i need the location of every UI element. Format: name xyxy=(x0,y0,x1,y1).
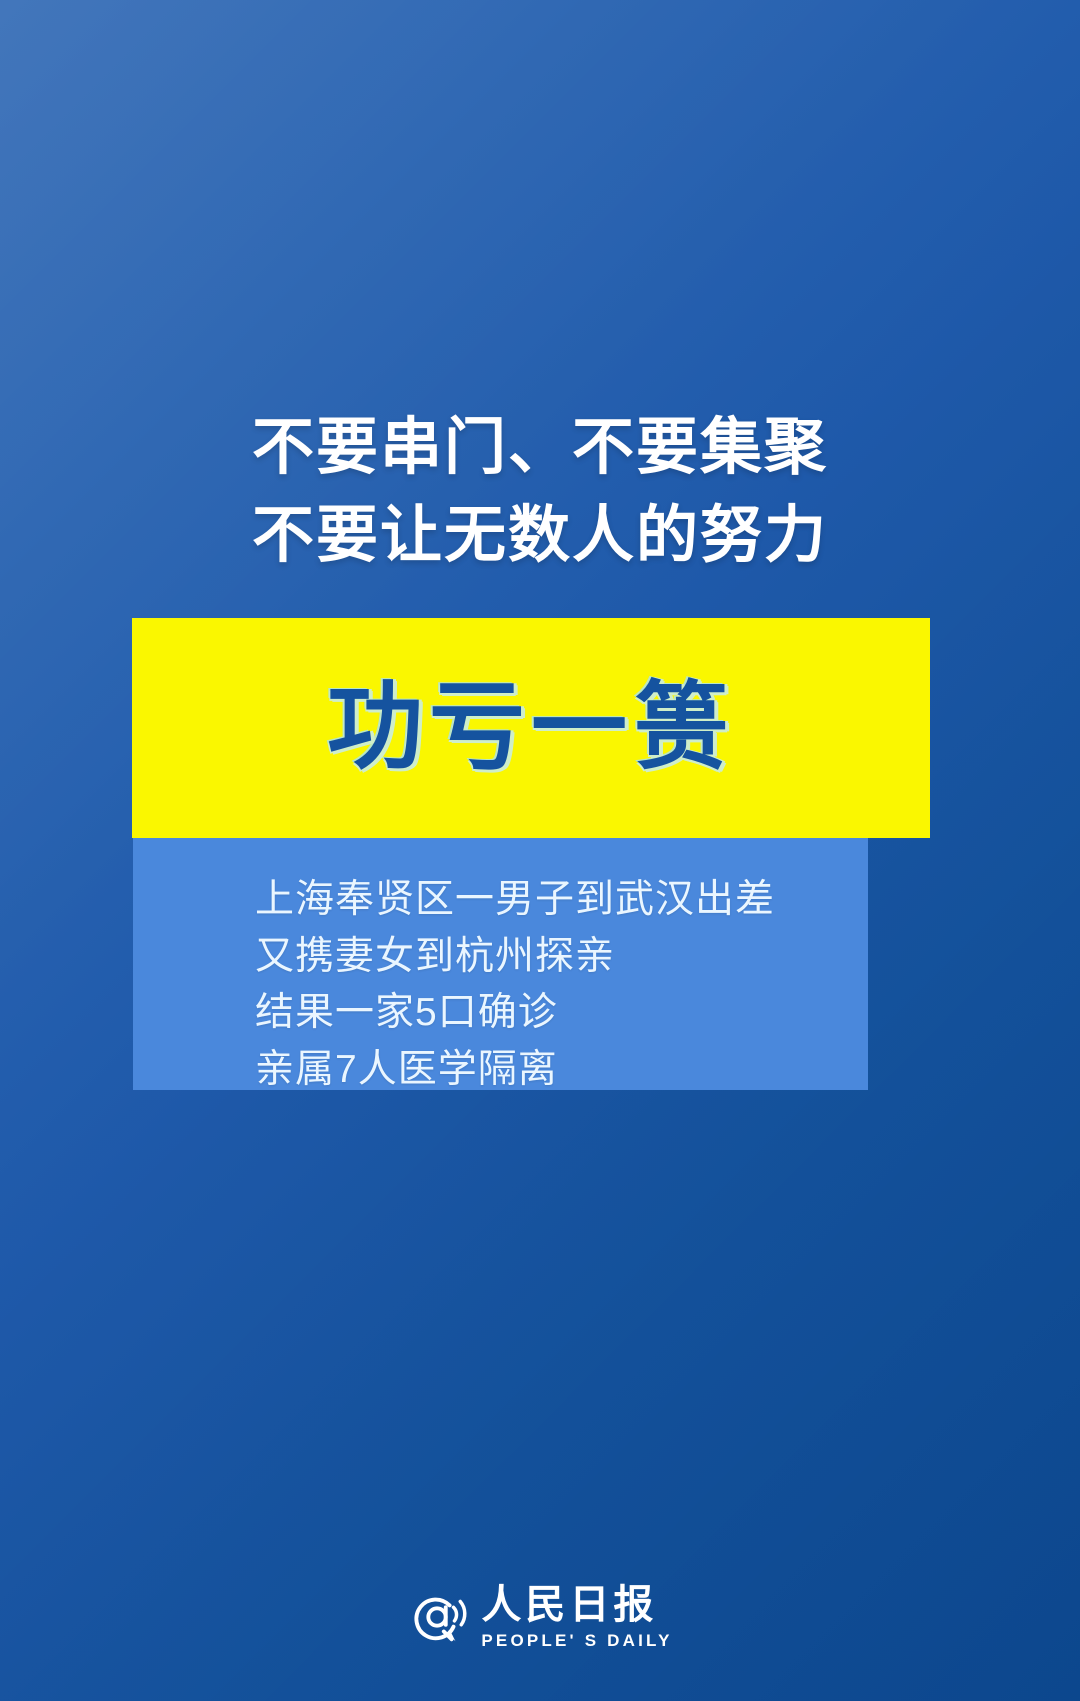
detail-box: 上海奉贤区一男子到武汉出差 又携妻女到杭州探亲 结果一家5口确诊 亲属7人医学隔… xyxy=(133,838,868,1090)
brand-logo: 人民日报 PEOPLE' S DAILY xyxy=(0,1585,1080,1649)
headline: 不要串门、不要集聚 不要让无数人的努力 xyxy=(0,404,1080,580)
detail-line-4: 亲属7人医学隔离 xyxy=(255,1042,868,1099)
headline-line-2: 不要让无数人的努力 xyxy=(0,492,1080,580)
detail-line-1: 上海奉贤区一男子到武汉出差 xyxy=(255,872,868,929)
highlight-banner-text: 功亏一篑 xyxy=(327,680,735,776)
at-sign-with-soundwave-icon xyxy=(407,1586,469,1648)
detail-line-2: 又携妻女到杭州探亲 xyxy=(255,929,868,986)
brand-logo-text: 人民日报 PEOPLE' S DAILY xyxy=(481,1585,672,1649)
highlight-banner: 功亏一篑 xyxy=(132,618,930,838)
poster-canvas: 不要串门、不要集聚 不要让无数人的努力 功亏一篑 上海奉贤区一男子到武汉出差 又… xyxy=(0,0,1080,1701)
brand-name-cn: 人民日报 xyxy=(481,1585,657,1625)
headline-line-1: 不要串门、不要集聚 xyxy=(0,404,1080,492)
brand-name-en: PEOPLE' S DAILY xyxy=(481,1632,672,1649)
detail-line-3: 结果一家5口确诊 xyxy=(255,985,868,1042)
